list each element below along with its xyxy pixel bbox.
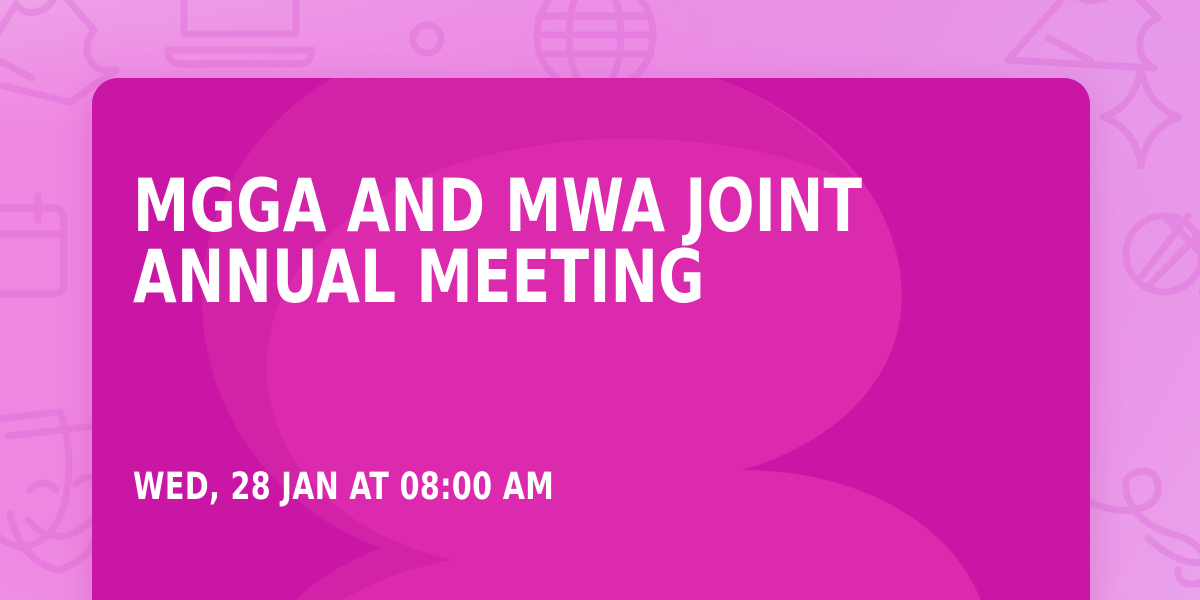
event-title: MGGA and MWA Joint Annual Meeting: [133, 172, 873, 314]
event-date: Wed, 28 Jan at 08:00 AM: [133, 468, 554, 505]
event-banner: MGGA and MWA Joint Annual Meeting Wed, 2…: [0, 0, 1200, 600]
event-card[interactable]: MGGA and MWA Joint Annual Meeting Wed, 2…: [92, 78, 1090, 600]
card-content: MGGA and MWA Joint Annual Meeting Wed, 2…: [133, 78, 1049, 600]
